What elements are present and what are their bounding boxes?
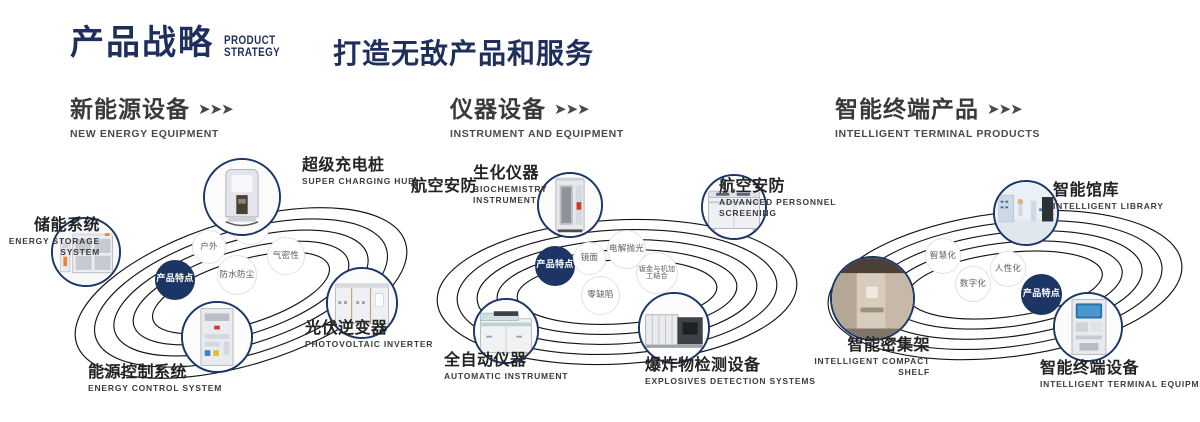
page-title-en: PRODUCT STRATEGY [224, 34, 280, 58]
feature-bubble-label: 数字化 [960, 280, 986, 289]
energy-control-cabinet-icon [183, 303, 251, 371]
feature-bubble-label: 智慧化 [930, 252, 956, 261]
feature-bubble-waterproof: 防水防尘 [217, 255, 257, 295]
item-label-en: PHOTOVOLTAIC INVERTER [305, 339, 433, 350]
label-energy-control-system: 能源控制系统 ENERGY CONTROL SYSTEM [88, 362, 222, 394]
page-title-cn: 产品战略 [70, 26, 214, 60]
feature-bubble-humanized: 人性化 [990, 251, 1026, 287]
item-label-cn: 全自动仪器 [444, 350, 568, 369]
section-title-cn-text: 智能终端产品 [835, 97, 979, 123]
core-bubble-label: 产品特点 [156, 275, 193, 284]
feature-bubble-outdoor: 户外 [192, 230, 226, 264]
core-bubble-product-features: 产品特点 [155, 260, 195, 300]
photo-super-charging-hub[interactable] [203, 158, 281, 236]
feature-bubble-airtightness: 气密性 [267, 237, 305, 275]
label-intelligent-compact-shelf: 智能密集架 INTELLIGENT COMPACTSHELF [790, 335, 930, 378]
label-intelligent-terminal-equipment: 智能终端设备 INTELLIGENT TERMINAL EQUIPMENT [1040, 358, 1200, 390]
feature-bubble-sheetmetal-machining: 钣金与机加工结合 [636, 252, 678, 294]
section-title-en: INSTRUMENT AND EQUIPMENT [450, 128, 624, 140]
page-header: 产品战略 PRODUCT STRATEGY [70, 26, 292, 60]
item-label-cn: 生化仪器 [473, 163, 547, 182]
section-title-cn-text: 新能源设备 [70, 97, 190, 123]
section-title-en: NEW ENERGY EQUIPMENT [70, 128, 233, 140]
section-title-en: INTELLIGENT TERMINAL PRODUCTS [835, 128, 1040, 140]
feature-bubble-label: 户外 [200, 243, 218, 252]
section-title-cn: 智能终端产品➤➤➤ [835, 96, 1040, 123]
item-label-cn: 智能馆库 [1053, 180, 1164, 199]
product-strategy-infographic: 产品战略 PRODUCT STRATEGY 打造无敌产品和服务 新能源设备➤➤➤… [0, 0, 1200, 422]
photo-intelligent-compact-shelf[interactable] [830, 256, 915, 341]
item-label-en: AUTOMATIC INSTRUMENT [444, 371, 568, 382]
page-subtitle: 打造无敌产品和服务 [333, 32, 594, 72]
item-label-cn: 能源控制系统 [88, 362, 222, 381]
intelligent-library-icon [995, 182, 1057, 244]
biochemistry-instrument-icon [539, 174, 601, 236]
feature-bubble-zero-defect: 零缺陷 [581, 276, 620, 315]
feature-bubble-label: 人性化 [995, 265, 1021, 274]
label-intelligent-library: 智能馆库 INTELLIGENT LIBRARY [1053, 180, 1164, 212]
feature-bubble-label: 气密性 [273, 252, 299, 261]
section-title-cn-text: 仪器设备 [450, 97, 546, 123]
photo-explosives-detection[interactable] [638, 292, 710, 364]
section-heading-intelligent-terminal: 智能终端产品➤➤➤ INTELLIGENT TERMINAL PRODUCTS [835, 96, 1040, 140]
chevron-triple-icon: ➤➤➤ [987, 96, 1022, 122]
explosives-detection-icon [640, 294, 708, 362]
label-photovoltaic-inverter: 光伏逆变器 PHOTOVOLTAIC INVERTER [305, 318, 433, 350]
label-biochemistry-instrument: 生化仪器 BIOCHEMISTRYINSTRUMENT [473, 163, 547, 206]
item-label-cn: 智能终端设备 [1040, 358, 1200, 377]
section-heading-new-energy: 新能源设备➤➤➤ NEW ENERGY EQUIPMENT [70, 96, 233, 140]
feature-bubble-label: 防水防尘 [219, 271, 254, 280]
section-title-cn: 新能源设备➤➤➤ [70, 96, 233, 123]
super-charging-hub-icon [205, 160, 279, 234]
item-label-cn: 光伏逆变器 [305, 318, 433, 337]
item-label-en: BIOCHEMISTRYINSTRUMENT [473, 184, 547, 206]
item-label-en: ENERGY CONTROL SYSTEM [88, 383, 222, 394]
label-super-charging-hub: 超级充电桩 SUPER CHARGING HUB [302, 155, 415, 187]
section-heading-instrument: 仪器设备➤➤➤ INSTRUMENT AND EQUIPMENT [450, 96, 624, 140]
feature-bubble-label: 电解抛光 [609, 245, 644, 254]
page-title-en-line2: STRATEGY [224, 46, 280, 58]
feature-bubble-label: 镜面 [581, 254, 599, 263]
item-label-cn: 超级充电桩 [302, 155, 415, 174]
photo-intelligent-terminal-equipment[interactable] [1053, 292, 1123, 362]
label-automatic-instrument: 全自动仪器 AUTOMATIC INSTRUMENT [444, 350, 568, 382]
photo-intelligent-library[interactable] [993, 180, 1059, 246]
item-label-en: INTELLIGENT LIBRARY [1053, 201, 1164, 212]
item-label-en: INTELLIGENT TERMINAL EQUIPMENT [1040, 379, 1200, 390]
feature-bubble-digitalization: 数字化 [955, 266, 991, 302]
label-energy-storage-system: 储能系统 ENERGY STORAGESYSTEM [0, 215, 100, 258]
compact-shelf-icon [832, 258, 913, 339]
item-label-en: INTELLIGENT COMPACTSHELF [790, 356, 930, 378]
item-label-en: ENERGY STORAGESYSTEM [0, 236, 100, 258]
core-bubble-label: 产品特点 [536, 261, 573, 270]
chevron-triple-icon: ➤➤➤ [198, 96, 233, 122]
item-label-en: SUPER CHARGING HUB [302, 176, 415, 187]
item-label-cn: 航空安防 [411, 176, 477, 195]
feature-bubble-label: 零缺陷 [587, 291, 613, 300]
terminal-kiosk-icon [1055, 294, 1121, 360]
chevron-triple-icon: ➤➤➤ [554, 96, 589, 122]
section-title-cn: 仪器设备➤➤➤ [450, 96, 624, 123]
feature-bubble-smart: 智慧化 [925, 238, 961, 274]
item-label-cn: 智能密集架 [790, 335, 930, 354]
core-bubble-product-features: 产品特点 [535, 246, 575, 286]
feature-bubble-label: 钣金与机加工结合 [637, 266, 677, 281]
feature-bubble-mirror: 镜面 [573, 242, 606, 275]
label-aviation-security-left: 航空安防 [411, 176, 477, 195]
item-label-cn: 储能系统 [0, 215, 100, 234]
